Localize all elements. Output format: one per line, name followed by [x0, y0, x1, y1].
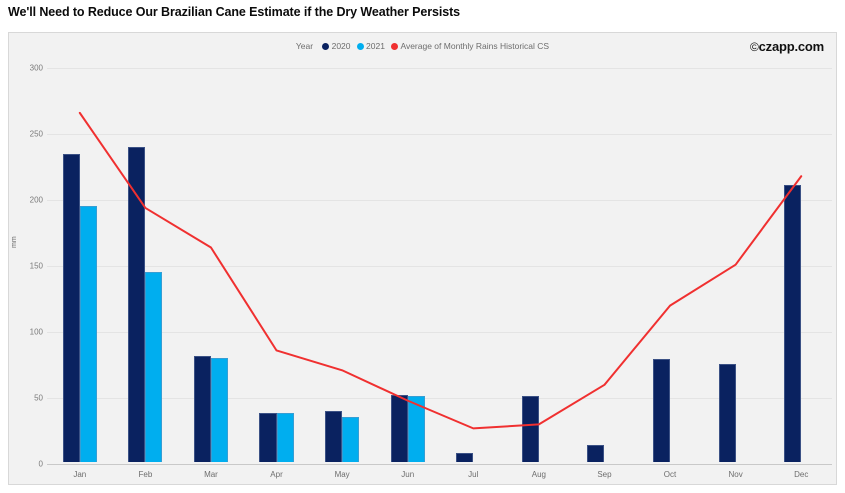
bar-group: [522, 33, 556, 484]
y-axis-tick-label: 150: [17, 262, 43, 271]
x-axis-tick-label: Nov: [729, 470, 743, 479]
x-axis-tick-label: Oct: [664, 470, 676, 479]
y-axis-tick-label: 50: [17, 394, 43, 403]
bar-group: [325, 33, 359, 484]
bar-2020-Jan[interactable]: [63, 154, 80, 462]
bar-2021-Jan[interactable]: [80, 206, 97, 462]
bar-2020-May[interactable]: [325, 411, 342, 462]
bar-group: [128, 33, 162, 484]
bar-2021-Apr[interactable]: [277, 413, 294, 462]
bar-2021-May[interactable]: [342, 417, 359, 462]
bar-group: [587, 33, 621, 484]
x-axis-tick-label: Sep: [597, 470, 611, 479]
bar-2021-Feb[interactable]: [145, 272, 162, 462]
y-axis-tick-label: 250: [17, 130, 43, 139]
bar-group: [653, 33, 687, 484]
bar-group: [194, 33, 228, 484]
bar-2020-Nov[interactable]: [719, 364, 736, 462]
bar-2021-Mar[interactable]: [211, 358, 228, 462]
y-axis-tick-label: 200: [17, 196, 43, 205]
chart-container: Year 2020 2021 Average of Monthly Rains …: [8, 32, 837, 485]
y-axis-tick-label: 0: [17, 460, 43, 469]
x-axis-tick-label: Feb: [138, 470, 152, 479]
page-title: We'll Need to Reduce Our Brazilian Cane …: [8, 5, 460, 19]
bar-group: [259, 33, 293, 484]
bar-2021-Jun[interactable]: [408, 396, 425, 462]
x-axis-tick-label: Jul: [468, 470, 478, 479]
bar-2020-Apr[interactable]: [259, 413, 276, 462]
bar-group: [63, 33, 97, 484]
chart-page: We'll Need to Reduce Our Brazilian Cane …: [0, 0, 845, 493]
bar-2020-Jul[interactable]: [456, 453, 473, 462]
x-axis-tick-label: Dec: [794, 470, 808, 479]
bar-2020-Dec[interactable]: [784, 185, 801, 462]
x-axis-tick-label: Mar: [204, 470, 218, 479]
x-axis-tick-label: May: [335, 470, 350, 479]
bar-2020-Aug[interactable]: [522, 396, 539, 462]
bar-group: [391, 33, 425, 484]
y-axis-label: mm: [11, 236, 18, 248]
bar-2020-Sep[interactable]: [587, 445, 604, 462]
y-axis-tick-label: 100: [17, 328, 43, 337]
bar-2020-Feb[interactable]: [128, 147, 145, 462]
x-axis-tick-label: Jun: [401, 470, 414, 479]
plot-area: [47, 33, 832, 484]
x-axis-tick-label: Jan: [73, 470, 86, 479]
bar-group: [784, 33, 818, 484]
bar-group: [456, 33, 490, 484]
x-axis-tick-label: Aug: [532, 470, 546, 479]
y-axis-tick-label: 300: [17, 64, 43, 73]
x-axis-tick-label: Apr: [270, 470, 282, 479]
bar-2020-Oct[interactable]: [653, 359, 670, 462]
bar-2020-Mar[interactable]: [194, 356, 211, 462]
bar-2020-Jun[interactable]: [391, 395, 408, 462]
bar-group: [719, 33, 753, 484]
